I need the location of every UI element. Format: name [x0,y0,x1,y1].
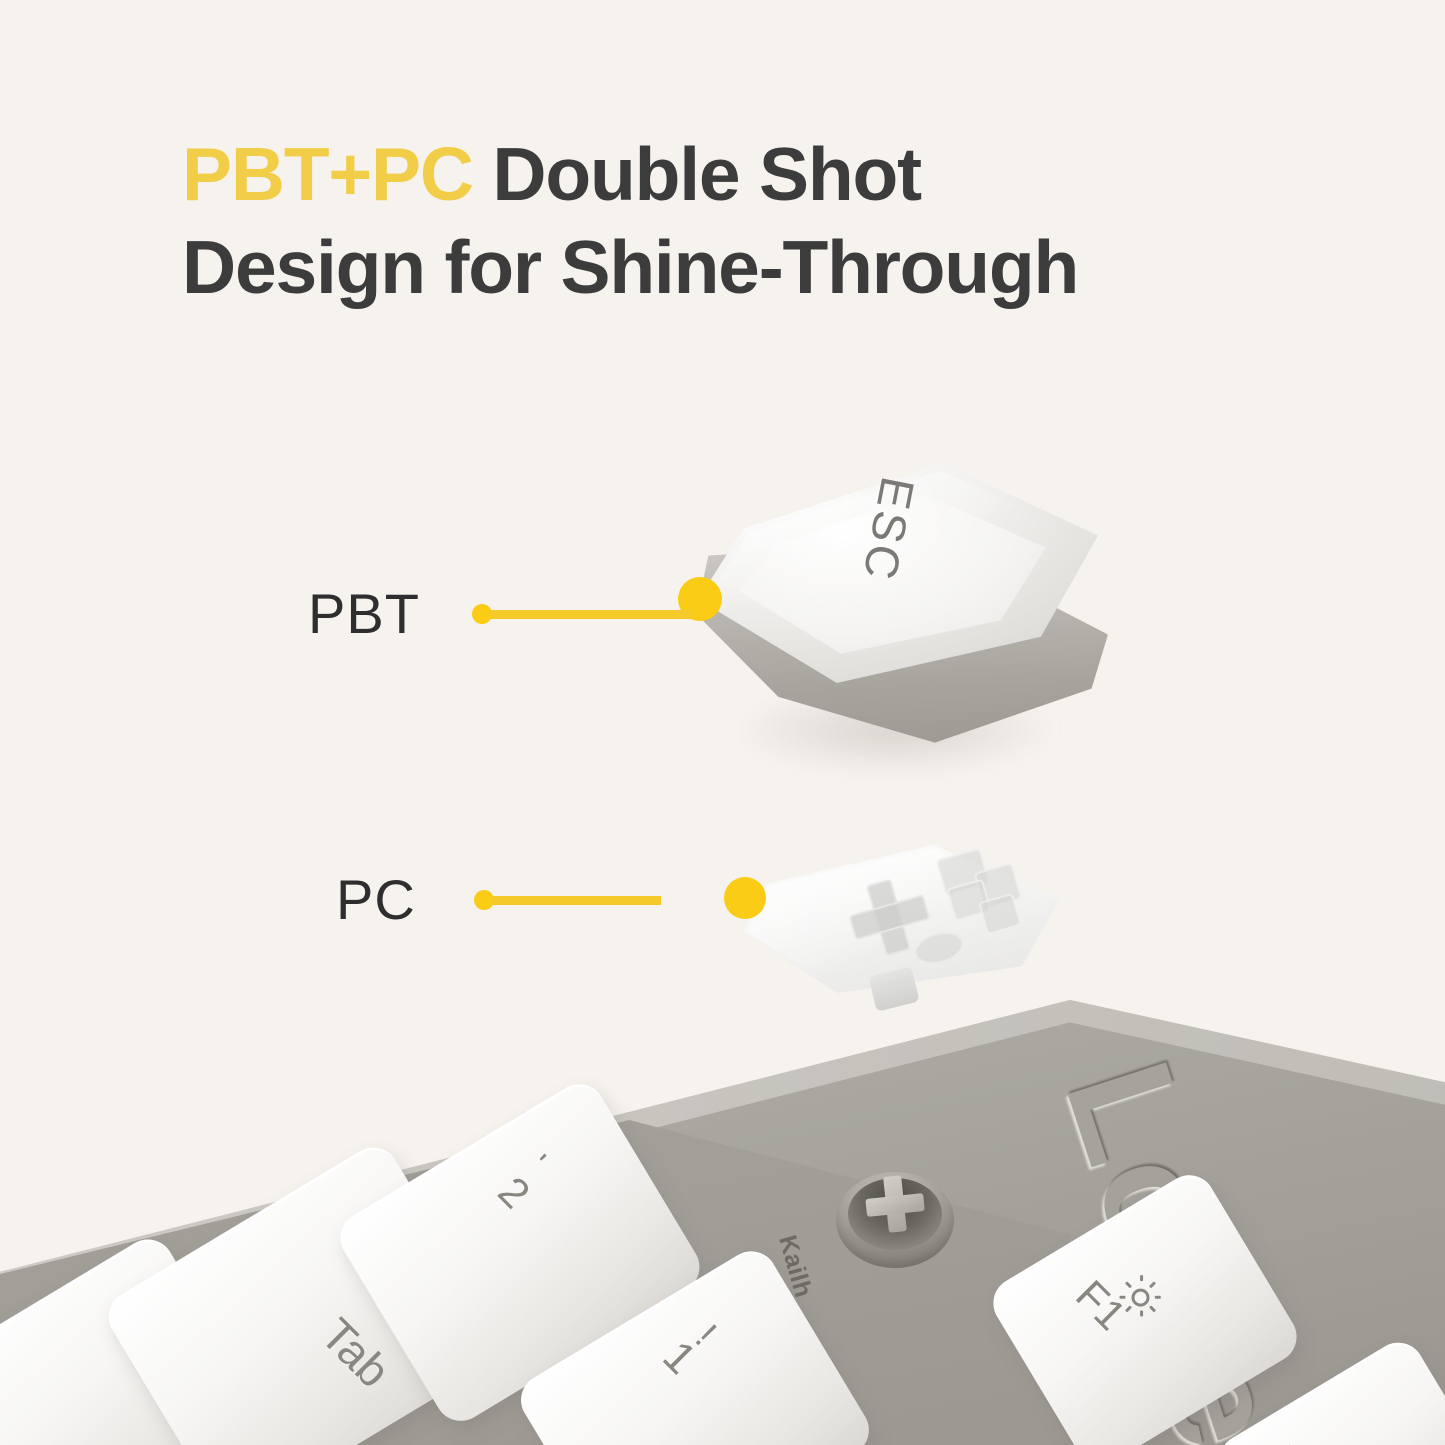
headline-line-1-rest: Double Shot [473,132,921,216]
callout-rule [489,610,691,619]
callout-leader-line-pbt [472,604,691,624]
product-feature-image: PBT+PC Double Shot Design for Shine-Thro… [0,0,1445,1445]
keycap-legend: F2 [1260,1437,1325,1445]
page-title: PBT+PC Double Shot Design for Shine-Thro… [182,128,1322,314]
keycap-legend: 2 [489,1168,539,1218]
callout-label-pbt: PBT [308,586,420,642]
callout-pbt: PBT [308,586,691,642]
keycap-body: ESC [690,455,1120,785]
callout-leader-line-pc [474,890,661,910]
headline-line-2: Design for Shine-Through [182,221,1322,314]
esc-keycap-pbt: ESC [690,455,1120,785]
callout-label-pc: PC [336,872,416,928]
keycap-legend-sub: ' [520,1148,552,1180]
cross-stem-icon [863,1173,927,1235]
kailh-switch [836,1162,954,1278]
callout-pc: PC [336,872,661,928]
headline-line-1: PBT+PC Double Shot [182,128,1322,221]
callout-rule [491,896,661,905]
headline-accent: PBT+PC [182,132,473,216]
callout-anchor-dot-pc [724,877,766,919]
